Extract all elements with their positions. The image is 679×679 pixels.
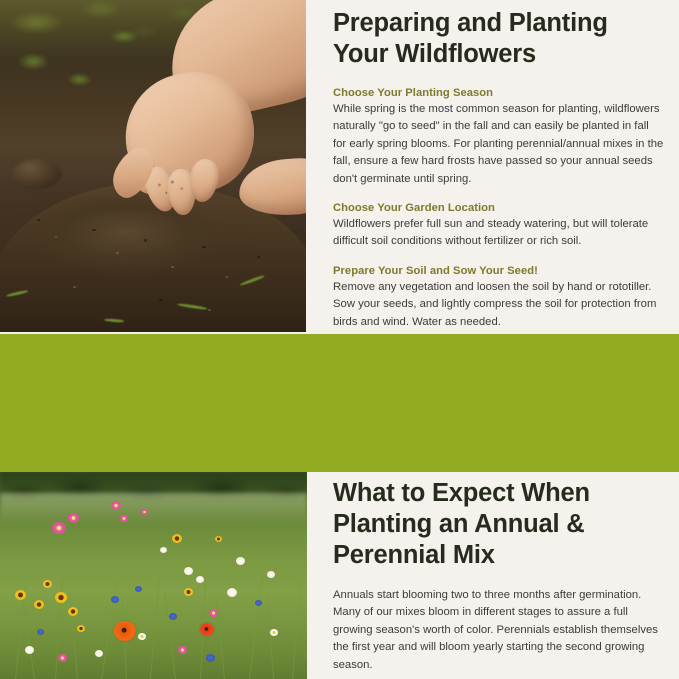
- flower-pink-cosmos: [178, 646, 187, 654]
- subhead-prepare-soil: Prepare Your Soil and Sow Your Seed!: [333, 264, 665, 279]
- flower-coreopsis: [68, 607, 78, 616]
- section-storing-your-seeds: Storing Your Seeds Store your seeds in a…: [0, 334, 679, 472]
- flower-pink-cosmos: [68, 513, 79, 523]
- flower-coreopsis: [77, 625, 85, 632]
- flower-white-umbel: [227, 588, 237, 597]
- flower-red-poppy: [200, 623, 214, 636]
- wildflower-meadow-image: [0, 472, 307, 679]
- flower-white-umbel: [25, 646, 34, 654]
- hands-sowing-seeds-image: [0, 0, 306, 332]
- expect-headline: What to Expect WhenPlanting an Annual &P…: [333, 478, 665, 571]
- infographic-page: Preparing and PlantingYour Wildflowers C…: [0, 0, 679, 679]
- body-prepare-soil: Remove any vegetation and loosen the soi…: [333, 279, 665, 328]
- expect-body: Annuals start blooming two to three mont…: [333, 587, 665, 673]
- body-planting-season: While spring is the most common season f…: [333, 101, 665, 188]
- flower-coreopsis: [43, 580, 52, 588]
- flower-cornflower: [135, 586, 142, 592]
- preparing-headline: Preparing and PlantingYour Wildflowers: [333, 8, 665, 70]
- preparing-headline-line1: Preparing and Planting: [333, 9, 608, 37]
- flower-orange-poppy: [114, 621, 136, 641]
- preparing-headline-line2: Your Wildflowers: [333, 40, 536, 68]
- flower-cornflower: [111, 596, 119, 603]
- subhead-planting-season: Choose Your Planting Season: [333, 86, 665, 101]
- subhead-garden-location: Choose Your Garden Location: [333, 201, 665, 216]
- flower-coreopsis: [172, 534, 182, 543]
- body-garden-location: Wildflowers prefer full sun and steady w…: [333, 216, 665, 251]
- preparing-text-column: Preparing and PlantingYour Wildflowers C…: [333, 8, 665, 328]
- section-preparing-and-planting: Preparing and PlantingYour Wildflowers C…: [0, 0, 679, 334]
- flower-white-umbel: [196, 576, 204, 583]
- expect-text-column: What to Expect WhenPlanting an Annual &P…: [333, 478, 665, 673]
- flower-pink-cosmos: [52, 522, 66, 534]
- flower-cornflower: [206, 654, 215, 662]
- expect-headline-line3: Perennial Mix: [333, 541, 495, 569]
- flower-pink-cosmos: [209, 609, 218, 617]
- flower-pink-cosmos: [111, 501, 121, 510]
- expect-headline-line2: Planting an Annual &: [333, 510, 584, 538]
- flower-cornflower: [169, 613, 177, 620]
- flower-white-umbel: [160, 547, 167, 553]
- expect-headline-line1: What to Expect When: [333, 479, 590, 507]
